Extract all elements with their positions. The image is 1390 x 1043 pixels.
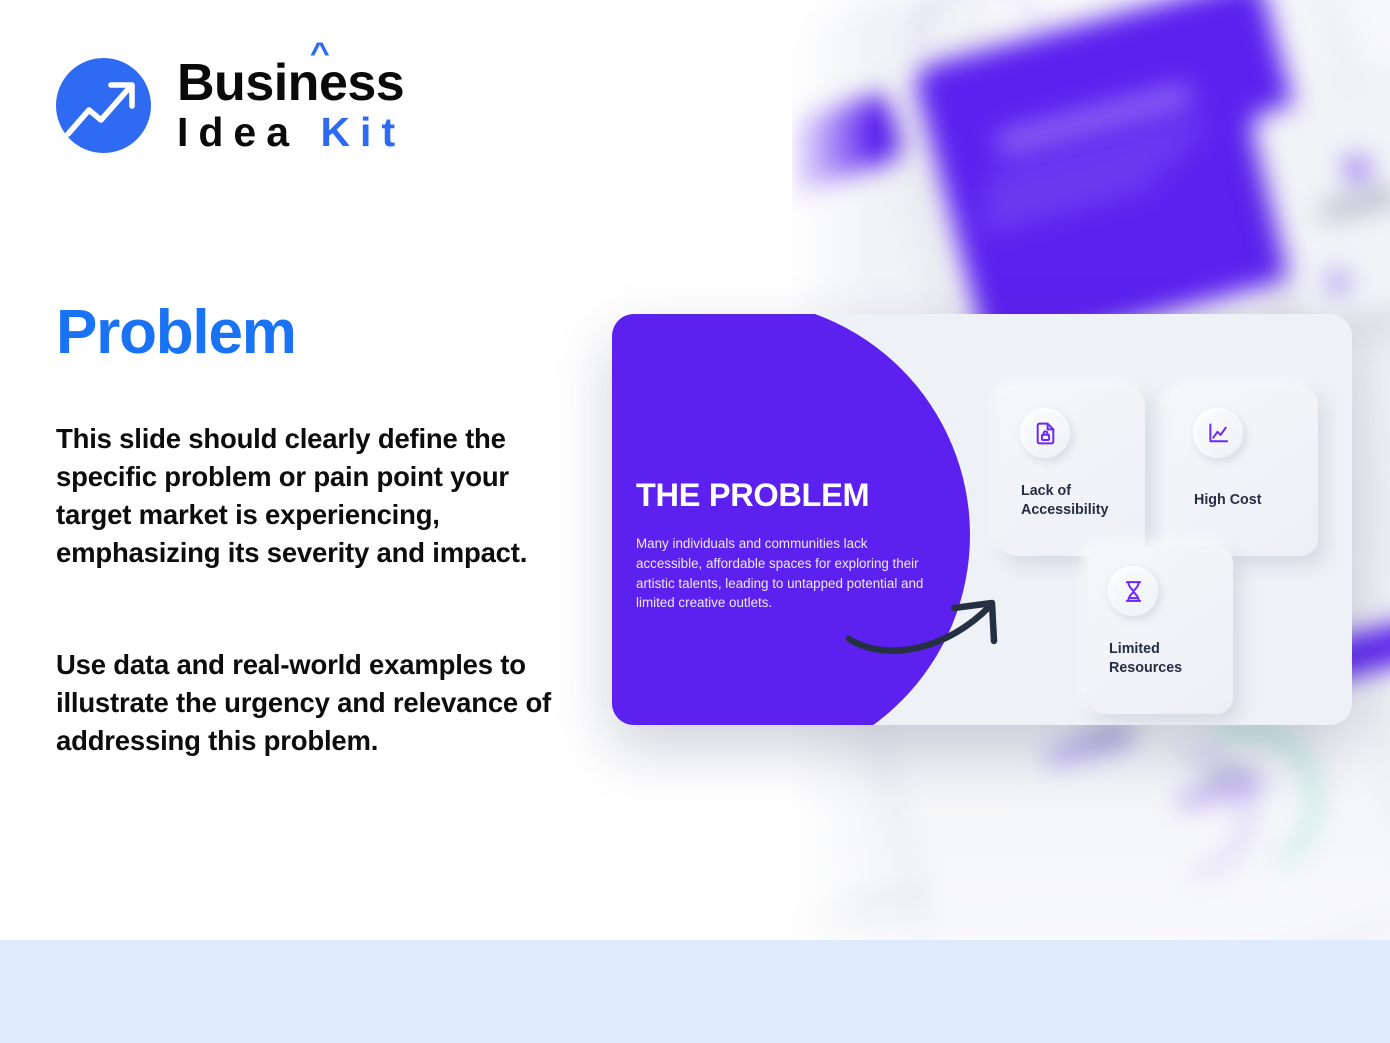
brand-logo: Business ^ Idea Kit <box>56 57 405 154</box>
brand-name-kit: Kit <box>320 109 405 155</box>
feature-label-line2: Resources <box>1109 660 1182 676</box>
feature-card-limited-resources[interactable]: Limited Resources <box>1088 546 1233 714</box>
feature-card-high-cost[interactable]: High Cost <box>1173 388 1318 556</box>
line-chart-icon <box>1193 408 1243 458</box>
brand-name-business: Business <box>177 54 404 112</box>
slide-heading: THE PROBLEM <box>636 477 966 514</box>
feature-label-line2: Accessibility <box>1021 502 1108 518</box>
page-root: Business ^ Idea Kit Problem This slide s… <box>0 0 1390 1043</box>
trending-up-arrow-icon <box>56 58 151 153</box>
feature-label-lack-of-accessibility: Lack of Accessibility <box>1021 482 1136 520</box>
curved-arrow-up-right-icon <box>844 595 1009 662</box>
body-paragraph-2: Use data and real-world examples to illu… <box>56 646 572 760</box>
bottom-color-band <box>0 940 1390 1043</box>
slide-preview-card[interactable]: THE PROBLEM Many individuals and communi… <box>612 314 1352 725</box>
feature-label-high-cost: High Cost <box>1194 491 1309 510</box>
feature-label-line1: Lack of <box>1021 483 1071 499</box>
brand-wordmark: Business ^ Idea Kit <box>177 57 405 154</box>
feature-label-limited-resources: Limited Resources <box>1109 640 1224 678</box>
feature-label-line1: Limited <box>1109 641 1160 657</box>
feature-card-lack-of-accessibility[interactable]: Lack of Accessibility <box>1000 388 1145 556</box>
brand-name-line2: Idea Kit <box>177 111 405 154</box>
brand-name-line1: Business ^ <box>177 57 405 109</box>
brand-name-idea: Idea <box>177 109 299 155</box>
slide-purple-blob <box>612 314 970 725</box>
body-paragraph-1: This slide should clearly define the spe… <box>56 420 572 572</box>
page-title: Problem <box>56 297 296 368</box>
hourglass-icon <box>1108 566 1158 616</box>
document-lock-icon <box>1020 408 1070 458</box>
brand-circumflex-accent: ^ <box>310 39 330 69</box>
